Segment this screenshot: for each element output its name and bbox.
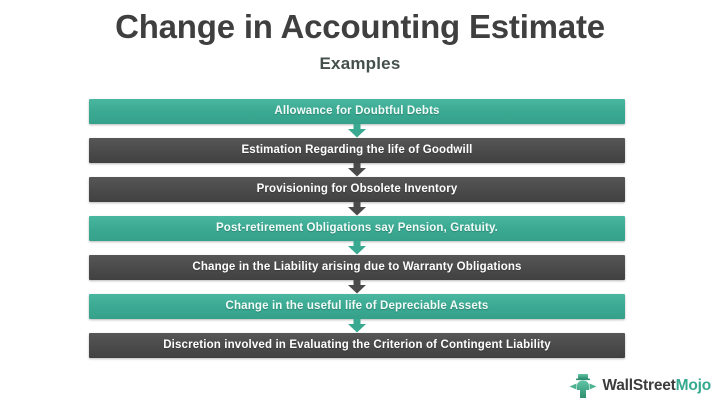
flow-bar: Allowance for Doubtful Debts (89, 99, 625, 124)
header: Change in Accounting Estimate Examples (0, 0, 720, 74)
wallstreetmojo-bull-icon (568, 373, 598, 399)
flow-bar-label: Allowance for Doubtful Debts (274, 106, 439, 118)
flow-bar: Estimation Regarding the life of Goodwil… (89, 138, 625, 163)
flow-bar: Change in the useful life of Depreciable… (89, 294, 625, 319)
logo-text-primary: WallStreet (602, 377, 675, 394)
arrow-down-icon (346, 241, 368, 255)
flow-bar: Post-retirement Obligations say Pension,… (89, 216, 625, 241)
flow-connector (89, 241, 625, 255)
logo-text: WallStreetMojo (602, 378, 711, 394)
flow-connector (89, 280, 625, 294)
arrow-down-icon (346, 202, 368, 216)
arrow-down-icon (346, 280, 368, 294)
flow-connector (89, 124, 625, 138)
wallstreetmojo-logo: WallStreetMojo (568, 373, 711, 399)
arrow-down-icon (346, 319, 368, 333)
page-subtitle: Examples (0, 54, 720, 74)
flow-bar-label: Change in the Liability arising due to W… (192, 262, 521, 274)
flow-bar-label: Change in the useful life of Depreciable… (226, 301, 489, 313)
flow-chart: Allowance for Doubtful DebtsEstimation R… (89, 99, 625, 358)
flow-bar-label: Discretion involved in Evaluating the Cr… (163, 340, 551, 352)
flow-bar: Discretion involved in Evaluating the Cr… (89, 333, 625, 358)
flow-bar-label: Post-retirement Obligations say Pension,… (216, 223, 498, 235)
flow-bar: Change in the Liability arising due to W… (89, 255, 625, 280)
logo-text-accent: Mojo (676, 377, 711, 394)
arrow-down-icon (346, 124, 368, 138)
flow-connector (89, 319, 625, 333)
flow-bar-label: Estimation Regarding the life of Goodwil… (241, 145, 472, 157)
flow-bar: Provisioning for Obsolete Inventory (89, 177, 625, 202)
page-title: Change in Accounting Estimate (0, 9, 720, 45)
infographic-page: Change in Accounting Estimate Examples A… (0, 0, 720, 403)
arrow-down-icon (346, 163, 368, 177)
flow-bar-label: Provisioning for Obsolete Inventory (257, 184, 458, 196)
flow-connector (89, 202, 625, 216)
flow-connector (89, 163, 625, 177)
